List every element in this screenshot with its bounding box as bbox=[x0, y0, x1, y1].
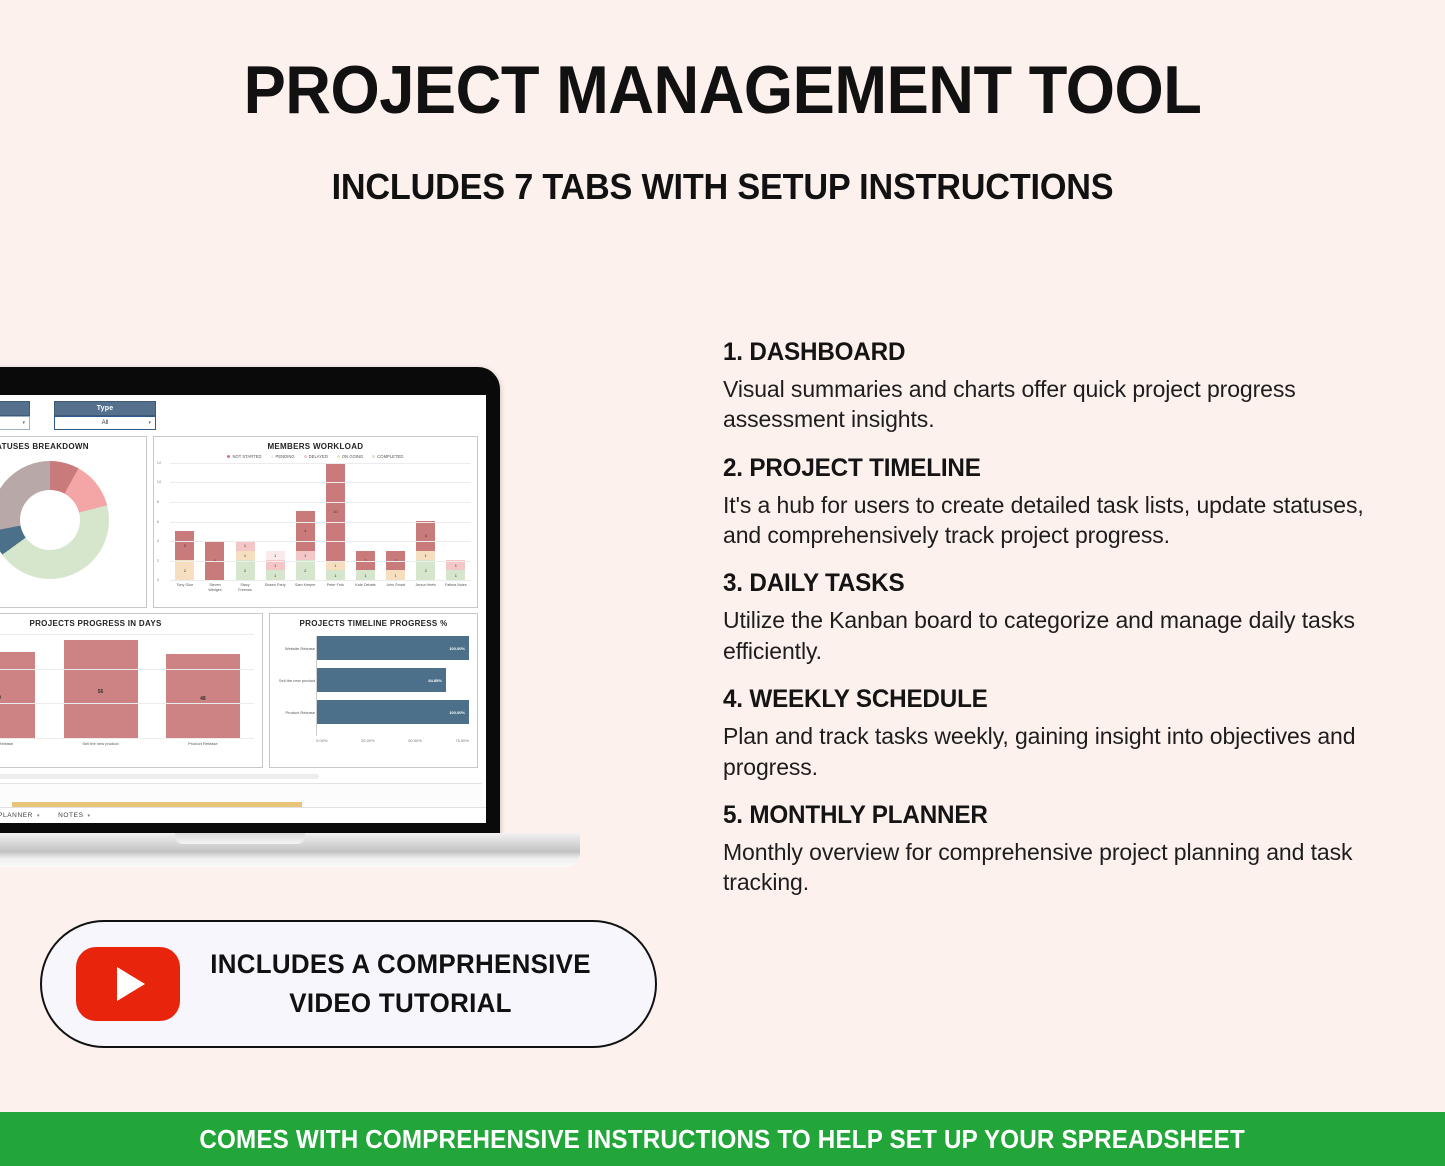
list-item: 4. WEEKLY SCHEDULE Plan and track tasks … bbox=[723, 685, 1373, 782]
list-item: 1. DASHBOARD Visual summaries and charts… bbox=[723, 338, 1373, 435]
chart-projects-progress-days: PROJECTS PROGRESS IN DAYS 495648 0204060… bbox=[0, 613, 263, 768]
bar-segment: 1 bbox=[236, 551, 255, 561]
filter-member-label: Member bbox=[0, 401, 30, 416]
youtube-play-icon bbox=[76, 947, 180, 1021]
chart-statuses-title: STATUSES BREAKDOWN bbox=[0, 437, 146, 451]
bar-segment: 1 bbox=[326, 561, 345, 571]
list-item: 5. MONTHLY PLANNER Monthly overview for … bbox=[723, 801, 1373, 898]
y-axis-tick: 4 bbox=[157, 538, 159, 543]
x-axis-label: Tony Glue bbox=[174, 583, 196, 592]
bar-value-label: 56 bbox=[64, 689, 138, 695]
footer-text: COMES WITH COMPREHENSIVE INSTRUCTIONS TO… bbox=[200, 1124, 1246, 1155]
x-axis-tick: 0.00% bbox=[316, 738, 327, 743]
x-axis-tick: 50.00% bbox=[408, 738, 422, 743]
donut-ring bbox=[0, 461, 109, 579]
bar-segment: 2 bbox=[175, 560, 194, 580]
bar: 100.00% bbox=[317, 700, 469, 724]
gridline bbox=[0, 669, 254, 670]
chevron-down-icon: ▾ bbox=[22, 420, 25, 426]
sheet-tab-bar: LE▾MONTHLY PLANNER▾NOTES▾ bbox=[0, 807, 486, 823]
filter-type[interactable]: Type All ▾ bbox=[54, 401, 156, 430]
gridline bbox=[170, 502, 471, 503]
bar-segment: 1 bbox=[446, 570, 465, 580]
bar-segment: 1 bbox=[386, 570, 405, 580]
bar-segment: 1 bbox=[326, 570, 345, 580]
chart-statuses-breakdown: STATUSES BREAKDOWN PENDINGON GOINGNOT ST… bbox=[0, 436, 147, 608]
bar: 56 bbox=[64, 640, 138, 738]
y-axis-tick: 12 bbox=[157, 460, 161, 465]
gridline bbox=[0, 703, 254, 704]
bar-value-label: 84.85% bbox=[428, 678, 446, 683]
footer-banner: COMES WITH COMPREHENSIVE INSTRUCTIONS TO… bbox=[0, 1112, 1445, 1166]
x-axis-label: Sell the new product bbox=[58, 741, 144, 746]
bar-segment: 2 bbox=[236, 560, 255, 580]
instruction-body: Utilize the Kanban board to categorize a… bbox=[723, 605, 1373, 666]
legend-label: COMPLETED bbox=[377, 454, 403, 459]
filter-member[interactable]: Member All ▾ bbox=[0, 401, 30, 430]
legend-label: NOT STARTED bbox=[232, 454, 261, 459]
legend-label: PENDING bbox=[276, 454, 295, 459]
legend-swatch bbox=[304, 455, 307, 458]
y-axis-label: Sell the new product bbox=[272, 678, 315, 683]
chart-workload-plot: 3241121114121011212131211 024681012 bbox=[170, 463, 471, 581]
bar-value-label: 48 bbox=[166, 696, 240, 702]
gridline bbox=[170, 541, 471, 542]
instruction-heading: 3. DAILY TASKS bbox=[723, 569, 1354, 598]
legend-swatch bbox=[271, 455, 274, 458]
sheet-grid-area bbox=[0, 783, 482, 809]
bar: 49 bbox=[0, 652, 35, 738]
y-axis-tick: 10 bbox=[157, 479, 161, 484]
x-axis-label: Steven Wedges bbox=[204, 583, 226, 592]
chart-workload-title: MEMBERS WORKLOAD bbox=[154, 437, 477, 451]
x-axis-label: Stacy Freiman bbox=[234, 583, 256, 592]
bar-segment: 1 bbox=[266, 560, 285, 570]
laptop-screen-bezel: Member All ▾ Type All ▾ bbox=[0, 367, 500, 837]
x-axis-label: Kate Debate bbox=[354, 583, 376, 592]
gridline bbox=[170, 522, 471, 523]
y-axis-tick: 0 bbox=[157, 577, 159, 582]
play-triangle-icon bbox=[117, 967, 145, 1001]
list-item: 3. DAILY TASKS Utilize the Kanban board … bbox=[723, 569, 1373, 666]
chart-progress-days-bars: 495648 bbox=[0, 634, 254, 738]
gridline bbox=[0, 634, 254, 635]
x-axis-label: Website Release bbox=[0, 741, 41, 746]
chart-timeline-xticks: 0.00%25.00%50.00%75.00% bbox=[316, 738, 469, 743]
legend-swatch bbox=[337, 455, 340, 458]
bar-segment: 2 bbox=[416, 560, 435, 580]
bar: 48 bbox=[166, 654, 240, 738]
video-badge-line2: VIDEO TUTORIAL bbox=[189, 988, 612, 1019]
x-axis-tick: 25.00% bbox=[361, 738, 375, 743]
bar-row: Website Release100.00% bbox=[317, 636, 469, 660]
sheet-tab[interactable]: NOTES▾ bbox=[58, 812, 91, 819]
bar-value-label: 100.00% bbox=[449, 646, 469, 651]
bar-segment: 1 bbox=[236, 541, 255, 551]
gridline bbox=[170, 463, 471, 464]
list-item: 2. PROJECT TIMELINE It's a hub for users… bbox=[723, 454, 1373, 551]
filter-row: Member All ▾ Type All ▾ bbox=[0, 401, 482, 430]
sheet-tab[interactable]: MONTHLY PLANNER▾ bbox=[0, 812, 40, 819]
y-axis-label: Website Release bbox=[272, 646, 315, 651]
x-axis-label: Fatima Noles bbox=[445, 583, 467, 592]
chart-members-workload: MEMBERS WORKLOAD NOT STARTEDPENDINGDELAY… bbox=[153, 436, 478, 608]
instruction-body: Monthly overview for comprehensive proje… bbox=[723, 837, 1373, 898]
bar-segment: 1 bbox=[416, 551, 435, 561]
chevron-down-icon: ▾ bbox=[37, 813, 40, 819]
instruction-heading: 4. WEEKLY SCHEDULE bbox=[723, 685, 1354, 714]
instructions-list: 1. DASHBOARD Visual summaries and charts… bbox=[723, 338, 1373, 917]
laptop-trackpad-notch bbox=[175, 833, 305, 844]
spreadsheet-dashboard: Member All ▾ Type All ▾ bbox=[0, 395, 486, 823]
chart-progress-days-xlabels: Website ReleaseSell the new productProdu… bbox=[0, 741, 254, 746]
chart-timeline-title: PROJECTS TIMELINE PROGRESS % bbox=[270, 614, 477, 628]
instruction-body: Plan and track tasks weekly, gaining ins… bbox=[723, 721, 1373, 782]
instruction-heading: 1. DASHBOARD bbox=[723, 338, 1354, 367]
chart-timeline-plot: Website Release100.00%Sell the new produ… bbox=[316, 636, 469, 736]
gridline bbox=[170, 482, 471, 483]
legend-entry: NOT STARTED bbox=[227, 454, 261, 459]
gridline bbox=[170, 561, 471, 562]
chevron-down-icon: ▾ bbox=[148, 420, 151, 426]
filter-type-text: All bbox=[102, 420, 109, 426]
instruction-heading: 5. MONTHLY PLANNER bbox=[723, 801, 1354, 830]
x-axis-label: Shawn Party bbox=[264, 583, 286, 592]
y-axis-tick: 6 bbox=[157, 519, 159, 524]
bar-segment: 3 bbox=[416, 521, 435, 551]
x-axis-label: Sam Keeper bbox=[294, 583, 316, 592]
x-axis-label: John Smart bbox=[385, 583, 407, 592]
laptop-mockup: Member All ▾ Type All ▾ bbox=[0, 367, 580, 887]
bar-segment: 4 bbox=[296, 511, 315, 550]
bar-value-label: 49 bbox=[0, 695, 35, 701]
sheet-tab-label: MONTHLY PLANNER bbox=[0, 812, 33, 819]
legend-swatch bbox=[227, 455, 230, 458]
bar-segment: 1 bbox=[266, 570, 285, 580]
chart-workload-legend: NOT STARTEDPENDINGDELAYEDON GOINGCOMPLET… bbox=[154, 454, 477, 459]
gridline bbox=[0, 738, 254, 739]
legend-entry: COMPLETED bbox=[372, 454, 403, 459]
video-tutorial-badge[interactable]: INCLUDES A COMPRHENSIVE VIDEO TUTORIAL bbox=[40, 920, 657, 1048]
y-axis-label: Product Release bbox=[272, 710, 315, 715]
bar-segment: 3 bbox=[175, 531, 194, 561]
filter-type-label: Type bbox=[54, 401, 156, 416]
horizontal-scrollbar[interactable] bbox=[0, 774, 319, 779]
page-subtitle: INCLUDES 7 TABS WITH SETUP INSTRUCTIONS bbox=[36, 166, 1409, 208]
legend-entry: ON GOING bbox=[337, 454, 363, 459]
bar-segment: 1 bbox=[296, 551, 315, 561]
gridline bbox=[170, 580, 471, 581]
x-axis-label: Product Release bbox=[160, 741, 246, 746]
instruction-body: Visual summaries and charts offer quick … bbox=[723, 374, 1373, 435]
legend-label: DELAYED bbox=[309, 454, 328, 459]
chart-timeline-progress: PROJECTS TIMELINE PROGRESS % Website Rel… bbox=[269, 613, 478, 768]
bar-row: Product Release100.00% bbox=[317, 700, 469, 724]
x-axis-tick: 75.00% bbox=[455, 738, 469, 743]
page-title: PROJECT MANAGEMENT TOOL bbox=[51, 55, 1395, 126]
bar: 84.85% bbox=[317, 668, 446, 692]
instruction-heading: 2. PROJECT TIMELINE bbox=[723, 454, 1354, 483]
bar-segment: 10 bbox=[326, 463, 345, 561]
bar-value-label: 100.00% bbox=[449, 710, 469, 715]
x-axis-label: Jenna Heels bbox=[415, 583, 437, 592]
chart-progress-days-plot: 495648 0204060 bbox=[0, 634, 254, 739]
legend-entry: PENDING bbox=[271, 454, 295, 459]
filter-type-value[interactable]: All ▾ bbox=[54, 416, 156, 430]
video-badge-line1: INCLUDES A COMPRHENSIVE bbox=[189, 949, 612, 980]
chevron-down-icon: ▾ bbox=[88, 813, 91, 819]
filter-member-value[interactable]: All ▾ bbox=[0, 416, 30, 430]
y-axis-tick: 2 bbox=[157, 558, 159, 563]
chart-progress-days-title: PROJECTS PROGRESS IN DAYS bbox=[0, 614, 262, 628]
bar-segment: 2 bbox=[296, 560, 315, 580]
bar-segment: 1 bbox=[266, 551, 285, 561]
y-axis-tick: 8 bbox=[157, 499, 159, 504]
legend-label: ON GOING bbox=[342, 454, 363, 459]
bar: 100.00% bbox=[317, 636, 469, 660]
instruction-body: It's a hub for users to create detailed … bbox=[723, 490, 1373, 551]
sheet-tab-label: NOTES bbox=[58, 812, 83, 819]
bar-segment: 1 bbox=[446, 560, 465, 570]
bar-segment: 1 bbox=[356, 570, 375, 580]
chart-workload-xlabels: Tony GlueSteven WedgesStacy FreimanShawn… bbox=[170, 583, 471, 592]
bar-row: Sell the new product84.85% bbox=[317, 668, 469, 692]
legend-swatch bbox=[372, 455, 375, 458]
legend-entry: DELAYED bbox=[304, 454, 328, 459]
x-axis-label: Peter Fork bbox=[324, 583, 346, 592]
